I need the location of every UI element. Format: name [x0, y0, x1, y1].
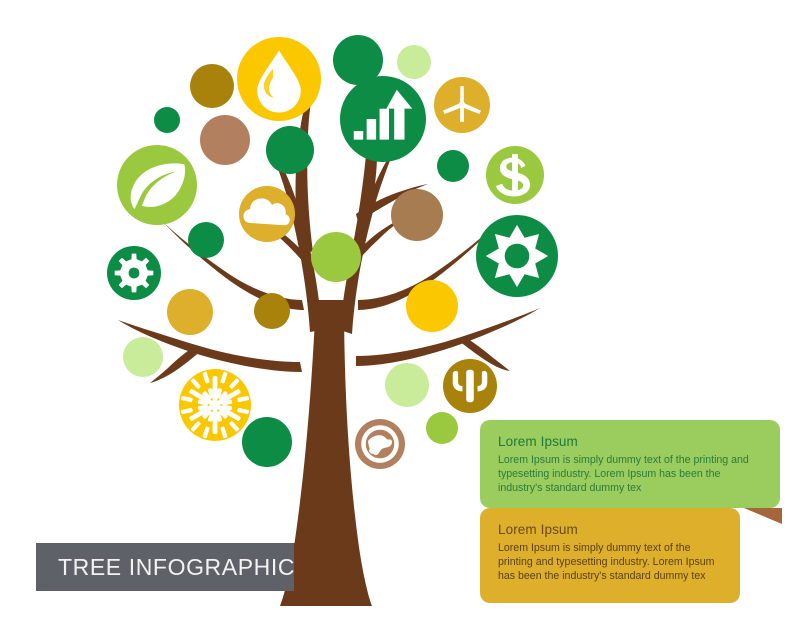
plain-circle-olive-mid: [254, 293, 290, 329]
plain-circle-green-left: [188, 222, 224, 258]
sun-icon-circle[interactable]: [476, 215, 558, 297]
plain-circle-pale-right: [385, 363, 429, 407]
callout-gold-body: Lorem Ipsum is simply dummy text of the …: [498, 541, 722, 584]
plain-circle-yellow-right: [406, 280, 458, 332]
plain-circle-pale-top: [397, 45, 431, 79]
plain-circle-green-mid: [266, 126, 314, 174]
snowflake-icon-circle[interactable]: [178, 369, 253, 441]
dollar-sign-icon-circle[interactable]: [486, 146, 544, 204]
sun-icon: [486, 225, 548, 287]
wind-turbine-icon-circle[interactable]: [434, 77, 490, 133]
plain-circle-green-sm: [154, 107, 180, 133]
gear-icon-circle[interactable]: [107, 246, 161, 300]
tree-infographic-canvas: TREE INFOGRAPHIC Lorem Ipsum Lorem Ipsum…: [0, 0, 800, 623]
gold-callout-fold-tab: [744, 508, 782, 524]
callout-gold-heading: Lorem Ipsum: [498, 522, 722, 539]
globe-icon-circle[interactable]: [355, 419, 405, 469]
title-banner: TREE INFOGRAPHIC: [36, 543, 294, 591]
plain-circle-green-dot: [437, 150, 469, 182]
callout-green-heading: Lorem Ipsum: [498, 434, 762, 451]
plain-circle-tan-right: [391, 189, 443, 241]
gear-icon: [115, 254, 154, 293]
plain-circle-tan: [200, 115, 250, 165]
callout-green-body: Lorem Ipsum is simply dummy text of the …: [498, 453, 762, 496]
plain-circle-pale-left: [123, 337, 163, 377]
plain-circle-gold-left: [167, 289, 213, 335]
leaf-icon-circle[interactable]: [117, 145, 197, 225]
plain-circle-lg-low: [426, 412, 458, 444]
plain-circle-green-low: [242, 417, 292, 467]
growth-chart-icon-circle[interactable]: [340, 76, 426, 162]
water-drop-icon-circle[interactable]: [237, 37, 321, 121]
plain-circle-dark-gold: [190, 64, 234, 108]
page-title: TREE INFOGRAPHIC: [36, 554, 295, 581]
cloud-icon-circle[interactable]: [239, 186, 295, 242]
callout-green[interactable]: Lorem Ipsum Lorem Ipsum is simply dummy …: [480, 420, 780, 508]
cactus-icon-circle[interactable]: [443, 359, 497, 413]
callout-gold[interactable]: Lorem Ipsum Lorem Ipsum is simply dummy …: [480, 508, 740, 603]
plain-circle-lightgreen: [311, 232, 361, 282]
